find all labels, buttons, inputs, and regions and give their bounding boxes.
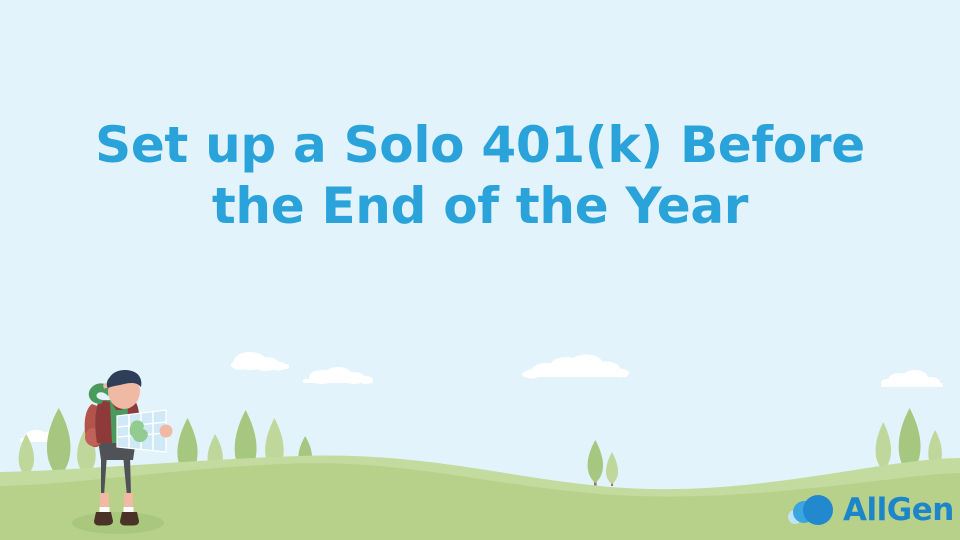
allgen-logo-text: AllGen	[843, 495, 954, 526]
sky-background	[0, 0, 960, 540]
hiker-boot-left	[94, 512, 113, 526]
logo-circle-big	[803, 495, 833, 525]
hiker-map	[117, 410, 166, 452]
hiker-hand-right	[160, 425, 173, 438]
allgen-circles-mark	[786, 493, 840, 527]
landscape-illustration	[0, 0, 960, 540]
hiker-jacket-left	[95, 400, 112, 443]
slide-canvas: Set up a Solo 401(k) Before the End of t…	[0, 0, 960, 540]
hiker-boot-right	[120, 512, 139, 526]
allgen-logo[interactable]: AllGen	[786, 487, 954, 533]
hiker-shadow	[72, 512, 164, 534]
